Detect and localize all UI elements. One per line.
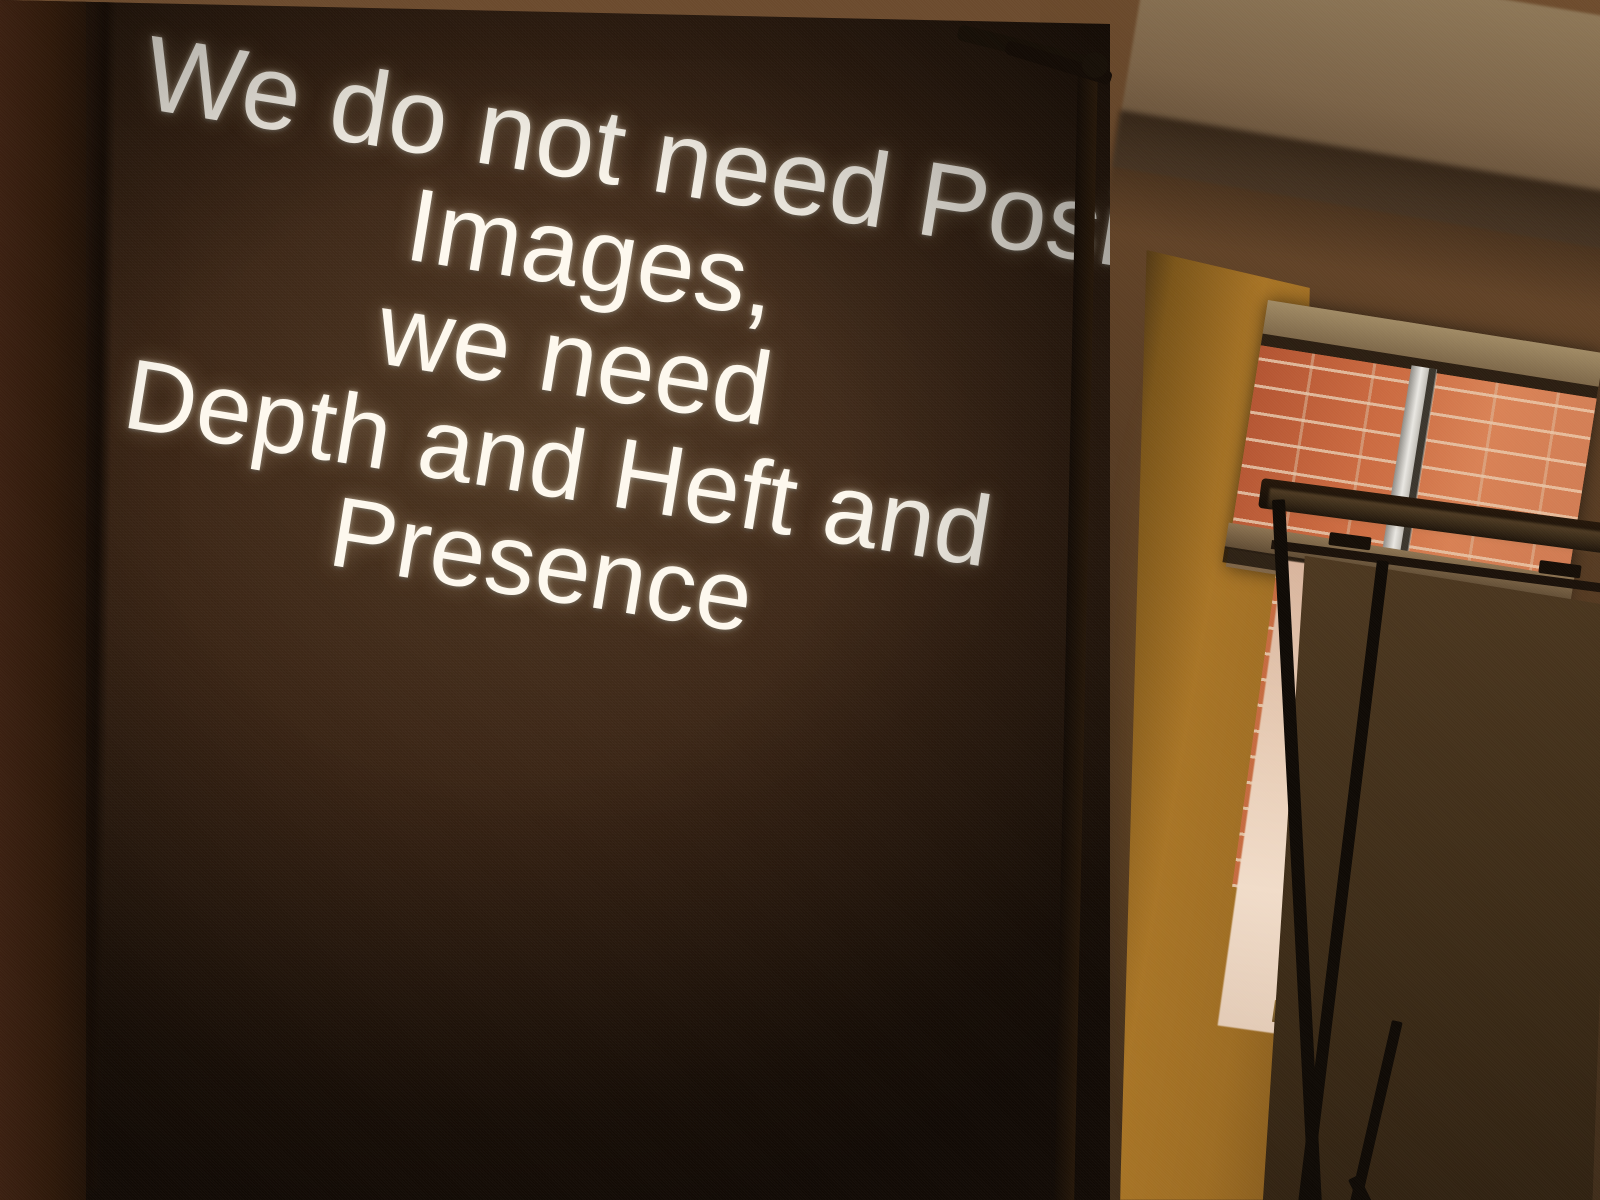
- screen-vignette: [0, 0, 1110, 1200]
- screen-left-wall: [0, 0, 86, 1200]
- projection-screen: We do not need Positive Images, we need …: [0, 0, 1110, 1200]
- photo-canvas: We do not need Positive Images, we need …: [0, 0, 1600, 1200]
- screen-roller-knob: [1082, 52, 1108, 78]
